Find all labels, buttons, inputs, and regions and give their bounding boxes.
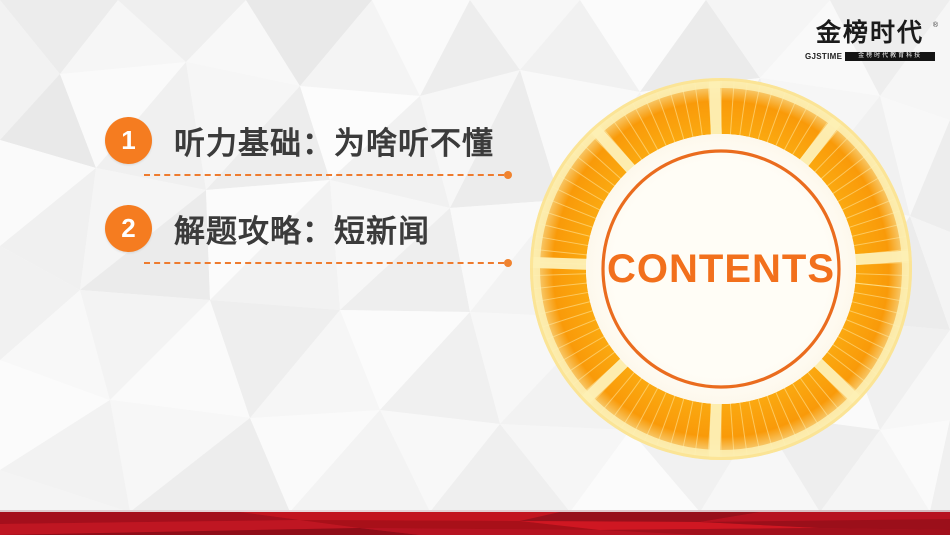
brand-logo-subtitle: GJSTIME 金榜时代教育科技 [805, 51, 935, 61]
agenda-item-1[interactable]: 1 听力基础：为啥听不懂 [105, 112, 535, 200]
agenda-list: 1 听力基础：为啥听不懂 2 解题攻略：短新闻 [105, 112, 535, 288]
contents-circle: CONTENTS [530, 78, 912, 460]
brand-logo-bar-text: 金榜时代教育科技 [845, 52, 935, 61]
brand-logo-mark: 金榜时代 [805, 18, 935, 50]
agenda-item-1-number: 1 [105, 117, 152, 164]
dashed-line [144, 262, 504, 264]
agenda-item-1-label: 听力基础：为啥听不懂 [174, 118, 494, 163]
agenda-item-1-divider [144, 171, 512, 180]
footer-red-band [0, 512, 950, 535]
agenda-item-2-divider [144, 259, 512, 268]
agenda-item-2-label: 解题攻略：短新闻 [174, 206, 430, 251]
brand-logo: 金榜时代 ® GJSTIME 金榜时代教育科技 [800, 18, 940, 64]
agenda-item-2-row: 2 解题攻略：短新闻 [105, 200, 535, 256]
agenda-item-1-row: 1 听力基础：为啥听不懂 [105, 112, 535, 168]
agenda-item-2[interactable]: 2 解题攻略：短新闻 [105, 200, 535, 288]
dashed-line [144, 174, 504, 176]
orange-slice-ring-image [530, 78, 912, 460]
divider-end-dot-icon [504, 171, 512, 179]
divider-end-dot-icon [504, 259, 512, 267]
agenda-item-2-number: 2 [105, 205, 152, 252]
presentation-slide: 金榜时代 ® GJSTIME 金榜时代教育科技 1 听力基础：为啥听不懂 2 解… [0, 0, 950, 535]
registered-trademark-icon: ® [933, 22, 938, 29]
brand-logo-latin: GJSTIME [805, 52, 842, 61]
